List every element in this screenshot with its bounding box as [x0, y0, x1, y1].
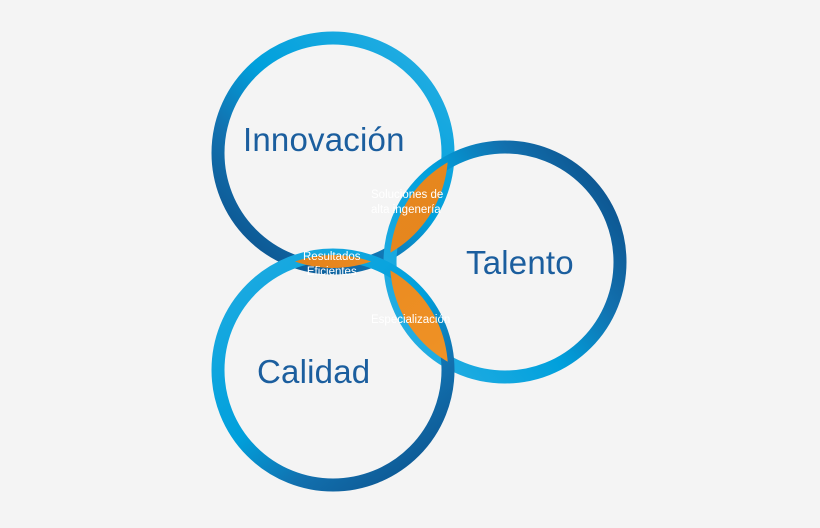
overlap-label-line: Especialización: [371, 313, 450, 328]
overlap-label-line: Soluciones de: [371, 188, 443, 203]
venn-svg-canvas: [0, 0, 820, 528]
overlap-label-line: alta ingenería: [371, 203, 443, 218]
circle-label-innovacion: Innovación: [243, 123, 405, 156]
overlap-label-line: Eficientes: [303, 265, 361, 280]
circle-label-calidad: Calidad: [257, 355, 370, 388]
overlap-label-line: Resultados: [303, 250, 361, 265]
circle-label-talento: Talento: [466, 246, 574, 279]
venn-diagram: Innovación Talento Calidad Soluciones de…: [0, 0, 820, 528]
overlap-label-innovacion-calidad: Resultados Eficientes: [303, 250, 361, 280]
overlap-label-innovacion-talento: Soluciones de alta ingenería: [371, 188, 443, 218]
overlap-label-talento-calidad: Especialización: [371, 313, 450, 328]
